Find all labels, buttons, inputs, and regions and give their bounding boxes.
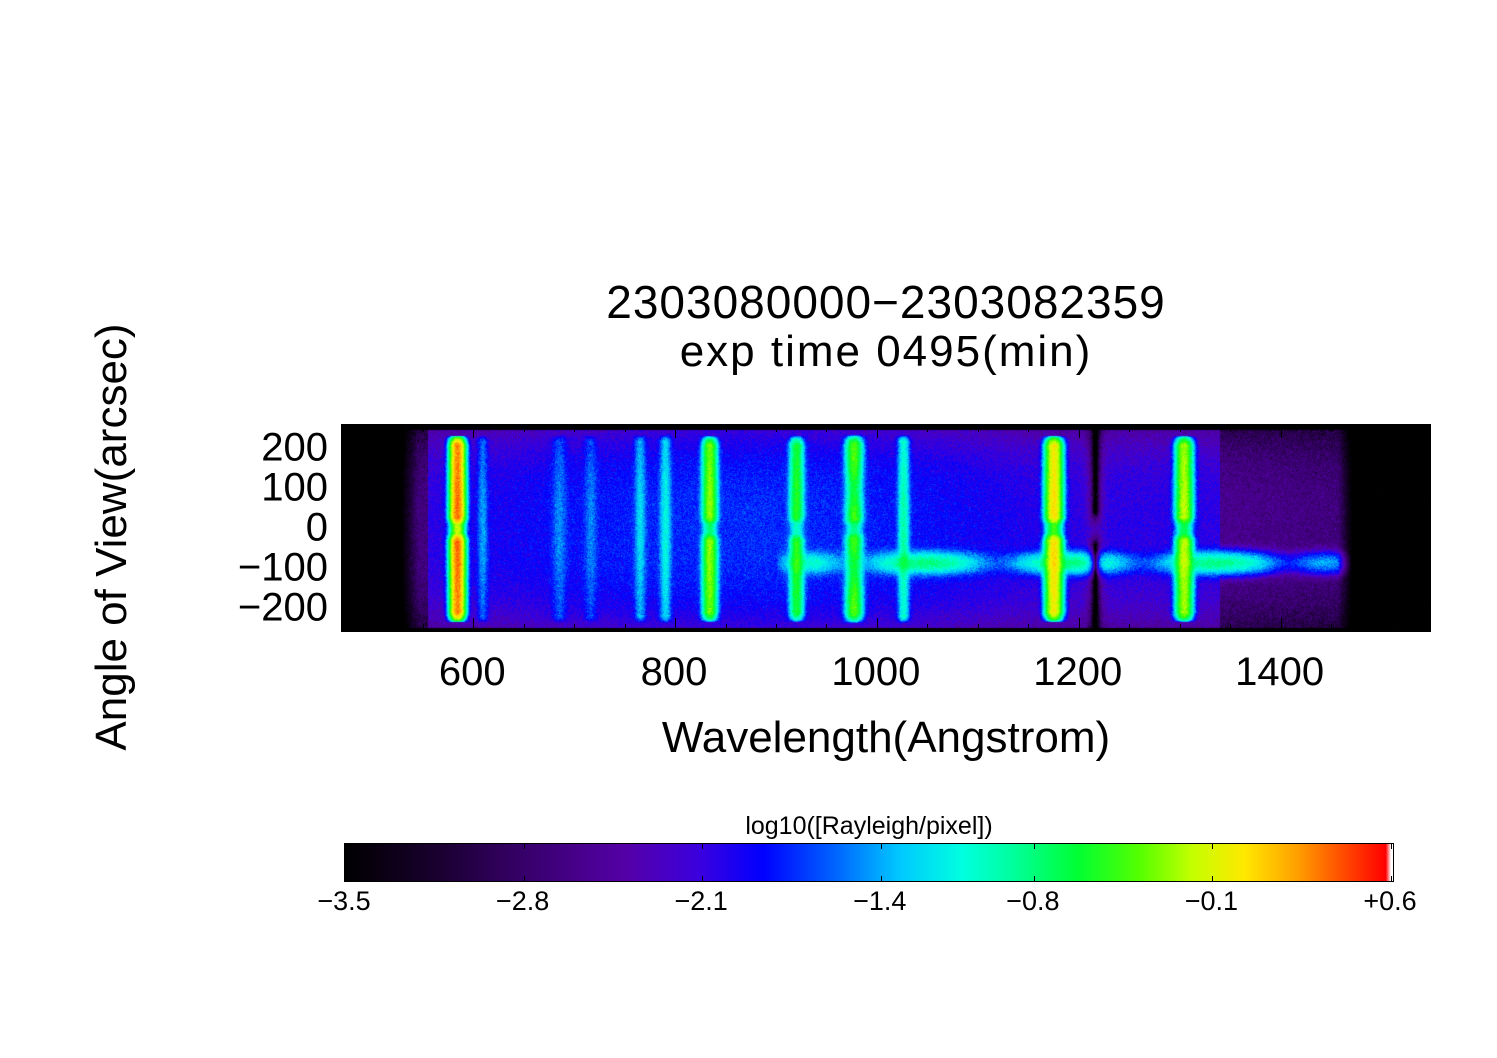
colorbar-tick — [345, 844, 346, 849]
y-axis-tick — [1423, 457, 1430, 458]
x-axis-tick — [1382, 624, 1383, 631]
colorbar-tick — [1391, 876, 1392, 881]
y-axis-tick — [342, 537, 349, 538]
x-axis-tick-label: 1400 — [1235, 650, 1324, 695]
colorbar-tick — [702, 844, 703, 849]
x-axis-tick — [1382, 425, 1383, 432]
colorbar-tick-label: −0.1 — [1185, 886, 1238, 917]
x-axis-tick — [776, 624, 777, 631]
y-axis-tick — [342, 433, 349, 434]
y-axis-tick — [1423, 601, 1430, 602]
colorbar-tick-label: −2.8 — [496, 886, 549, 917]
y-axis-tick — [342, 601, 349, 602]
colorbar-tick-label: −2.1 — [675, 886, 728, 917]
y-axis-tick — [342, 505, 349, 506]
x-axis-tick — [877, 425, 878, 438]
x-axis-tick — [978, 624, 979, 631]
y-axis-tick — [342, 625, 349, 626]
y-axis-tick — [342, 457, 349, 458]
y-axis-tick — [1423, 481, 1430, 482]
colorbar-tick — [1391, 844, 1392, 849]
x-axis-tick — [1180, 624, 1181, 631]
y-axis-tick — [1417, 489, 1430, 490]
colorbar-title: log10([Rayleigh/pixel]) — [344, 812, 1394, 841]
colorbar-tick — [881, 876, 882, 881]
y-axis-tick — [1423, 625, 1430, 626]
x-axis-tick — [524, 624, 525, 631]
figure-title: 2303080000−2303082359 exp time 0495(min) — [341, 278, 1431, 375]
x-axis-tick — [1230, 425, 1231, 432]
y-axis-tick — [1423, 441, 1430, 442]
y-axis-tick — [342, 513, 349, 514]
x-axis-tick — [1281, 618, 1282, 631]
x-axis-tick — [372, 624, 373, 631]
colorbar-tick-label: −3.5 — [317, 886, 370, 917]
x-axis-tick — [726, 425, 727, 432]
x-axis-tick — [675, 618, 676, 631]
colorbar-tick — [881, 844, 882, 849]
y-axis-tick — [1423, 513, 1430, 514]
y-axis-tick — [1417, 569, 1430, 570]
y-axis-tick — [1423, 553, 1430, 554]
x-axis-tick — [1129, 624, 1130, 631]
spectrogram-plot-area — [341, 424, 1431, 632]
x-axis-tick — [372, 425, 373, 432]
y-axis-tick — [342, 497, 349, 498]
x-axis-tick — [524, 425, 525, 432]
x-axis-tick — [927, 425, 928, 432]
y-axis-tick — [342, 545, 349, 546]
colorbar-tick — [345, 876, 346, 881]
x-axis-tick — [1331, 425, 1332, 432]
x-axis-title: Wavelength(Angstrom) — [341, 713, 1431, 763]
colorbar-tick-label: −0.8 — [1006, 886, 1059, 917]
x-axis-tick — [1028, 624, 1029, 631]
colorbar-tick — [1034, 844, 1035, 849]
x-axis-tick — [927, 624, 928, 631]
y-axis-tick — [342, 481, 349, 482]
y-axis-tick — [342, 465, 349, 466]
y-axis-tick — [342, 553, 349, 554]
x-axis-tick — [625, 624, 626, 631]
y-axis-tick — [342, 489, 355, 490]
y-axis-tick — [342, 569, 355, 570]
y-axis-tick — [1423, 473, 1430, 474]
x-axis-tick — [1230, 624, 1231, 631]
y-axis-tick — [342, 593, 349, 594]
y-axis-tick — [342, 449, 355, 450]
y-axis-tick — [342, 529, 355, 530]
colorbar-tick — [524, 844, 525, 849]
x-axis-tick — [978, 425, 979, 432]
colorbar-tick-label: −1.4 — [853, 886, 906, 917]
x-axis-tick — [423, 425, 424, 432]
x-axis-tick-label: 600 — [439, 650, 506, 695]
x-axis-tick — [1180, 425, 1181, 432]
y-axis-tick — [342, 425, 349, 426]
x-axis-tick — [826, 624, 827, 631]
y-axis-tick — [1423, 545, 1430, 546]
x-axis-tick — [423, 624, 424, 631]
colorbar-tick — [702, 876, 703, 881]
y-axis-tick-label: 100 — [261, 466, 328, 511]
x-axis-tick — [675, 425, 676, 438]
x-axis-tick — [1331, 624, 1332, 631]
y-axis-tick — [342, 609, 355, 610]
x-axis-tick — [826, 425, 827, 432]
x-axis-tick — [473, 425, 474, 438]
colorbar-gradient — [345, 844, 1391, 881]
spectrogram-figure: 2303080000−2303082359 exp time 0495(min)… — [0, 0, 1497, 1058]
x-axis-tick — [726, 624, 727, 631]
x-axis-tick — [1281, 425, 1282, 438]
y-axis-tick — [342, 617, 349, 618]
y-axis-tick — [1423, 617, 1430, 618]
y-axis-tick — [342, 473, 349, 474]
colorbar-tick — [1034, 876, 1035, 881]
y-axis-tick — [1423, 537, 1430, 538]
y-axis-tick — [1423, 593, 1430, 594]
title-line-observation-id: 2303080000−2303082359 — [341, 278, 1431, 328]
y-axis-tick — [342, 521, 349, 522]
x-axis-tick — [776, 425, 777, 432]
colorbar — [344, 843, 1394, 882]
x-axis-tick — [1079, 425, 1080, 438]
y-axis-tick — [342, 585, 349, 586]
y-axis-tick — [342, 441, 349, 442]
y-axis-tick — [1423, 505, 1430, 506]
y-axis-tick-labels: 2001000−100−200 — [160, 424, 328, 632]
y-axis-tick-label: −100 — [238, 546, 328, 591]
x-axis-tick — [1079, 618, 1080, 631]
x-axis-tick — [877, 618, 878, 631]
x-axis-tick — [574, 425, 575, 432]
colorbar-tick — [1212, 876, 1213, 881]
x-axis-tick — [574, 624, 575, 631]
y-axis-tick — [1423, 465, 1430, 466]
colorbar-tick-label: +0.6 — [1363, 886, 1416, 917]
y-axis-tick — [1417, 529, 1430, 530]
colorbar-tick — [524, 876, 525, 881]
y-axis-tick-label: 200 — [261, 426, 328, 471]
y-axis-tick-label: −200 — [238, 586, 328, 631]
x-axis-tick-label: 800 — [641, 650, 708, 695]
y-axis-title: Angle of View(arcsec) — [87, 277, 137, 797]
y-axis-tick — [1417, 609, 1430, 610]
y-axis-tick — [1423, 577, 1430, 578]
spectrogram-image — [342, 425, 1431, 632]
y-axis-tick — [1417, 449, 1430, 450]
y-axis-tick — [1423, 521, 1430, 522]
x-axis-tick — [1028, 425, 1029, 432]
x-axis-tick — [625, 425, 626, 432]
y-axis-tick — [1423, 433, 1430, 434]
y-axis-tick — [342, 561, 349, 562]
title-line-exposure-time: exp time 0495(min) — [341, 328, 1431, 376]
x-axis-tick — [1129, 425, 1130, 432]
y-axis-tick — [1423, 497, 1430, 498]
y-axis-tick — [1423, 561, 1430, 562]
y-axis-tick — [1423, 425, 1430, 426]
x-axis-tick-label: 1000 — [831, 650, 920, 695]
y-axis-tick-label: 0 — [306, 506, 328, 551]
colorbar-tick — [1212, 844, 1213, 849]
y-axis-tick — [342, 577, 349, 578]
x-axis-tick — [473, 618, 474, 631]
y-axis-tick — [1423, 585, 1430, 586]
x-axis-tick-label: 1200 — [1033, 650, 1122, 695]
